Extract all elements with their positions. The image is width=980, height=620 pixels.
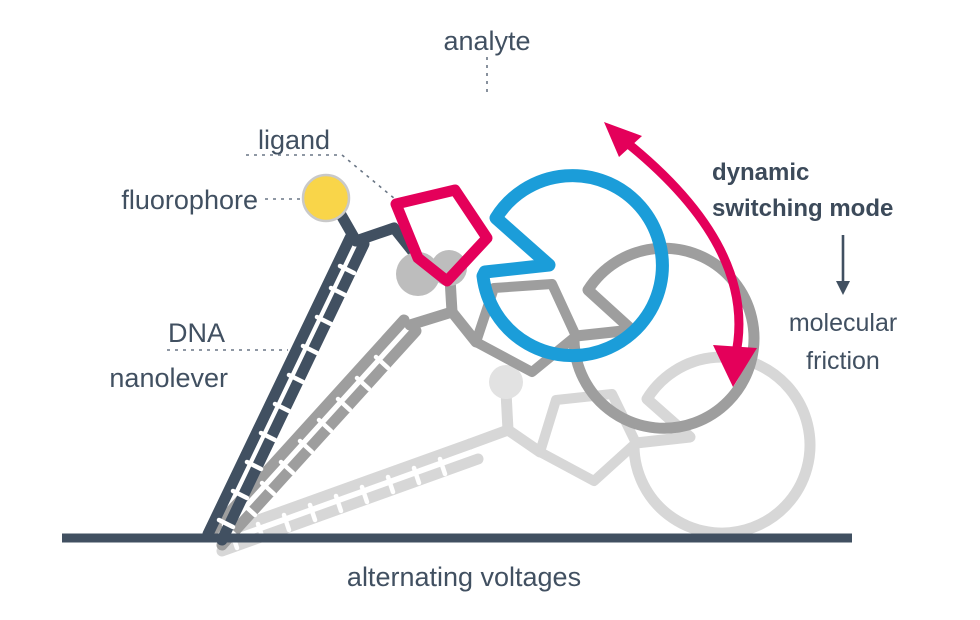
dynamic-switching-label-line1: dynamic bbox=[712, 159, 809, 186]
molecular-friction-label-line1: molecular bbox=[789, 309, 897, 337]
diagram-canvas: analyte ligand fluorophore DNA nanolever… bbox=[0, 0, 980, 620]
alternating-voltages-label: alternating voltages bbox=[347, 562, 581, 592]
dna-nanolever-label-line2: nanolever bbox=[109, 363, 228, 393]
ghost-lowered-analyte bbox=[634, 357, 810, 533]
dna-nanolever-label-line1: DNA bbox=[168, 318, 225, 348]
ligand-label: ligand bbox=[258, 125, 330, 155]
ligand-leader-diagonal bbox=[342, 155, 395, 199]
molecular-friction-label-line2: friction bbox=[806, 347, 880, 375]
consequence-arrow bbox=[836, 235, 850, 295]
arrowhead-consequence bbox=[836, 281, 850, 295]
fluorophore-label: fluorophore bbox=[121, 185, 258, 215]
analyte-label: analyte bbox=[443, 26, 530, 56]
nanolever-switching-diagram: analyte ligand fluorophore DNA nanolever… bbox=[0, 0, 980, 620]
fluorophore-marker[interactable] bbox=[303, 175, 349, 221]
ghost-lowered-ligand bbox=[540, 394, 636, 481]
dynamic-switching-label-line2: switching mode bbox=[712, 195, 893, 222]
